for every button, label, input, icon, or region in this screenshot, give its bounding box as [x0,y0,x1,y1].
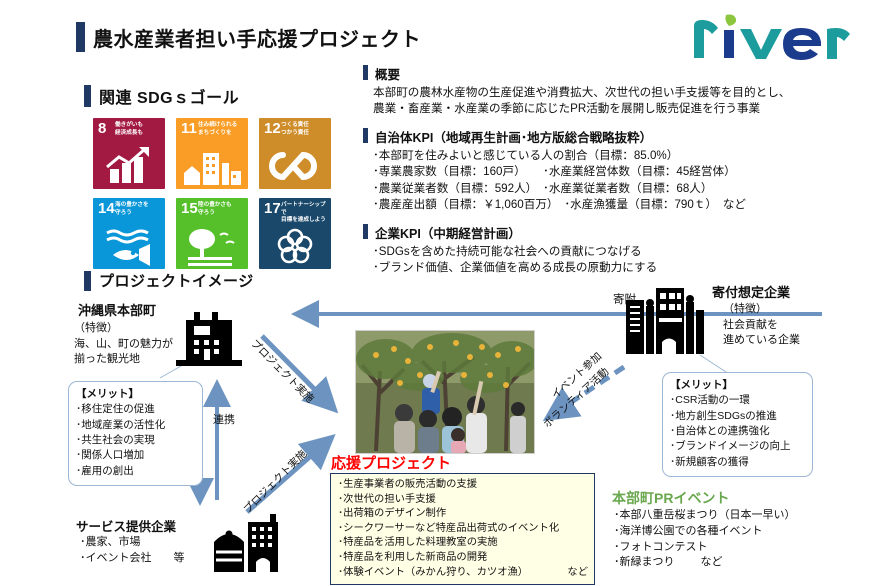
sdg-accent-bar [84,85,91,107]
overview-body: 本部町の農林水産物の生産促進や消費拡大、次世代の担い手支援等を目的とし、 農業・… [373,85,868,118]
gov-kpi-heading: 自治体KPI（地域再生計画･地方版総合戦略抜粋） [363,127,868,146]
government-building-icon [168,308,264,368]
project-image-accent-bar [84,271,91,291]
overview-line: 農業・畜産業・水産業の季節に応じたPR活動を展開し販売促進を行う事業 [373,101,868,117]
tree-birds-icon [176,225,248,267]
pr-events-last-row: ･新緑まつり など [614,555,796,571]
city-buildings-icon [176,145,248,187]
donor-merit-item: ･地方創生SDGsの推進 [670,409,806,424]
town-name: 沖縄県本部町 [78,300,156,319]
town-feature: （特徴） 海、山、町の魅力が 揃った観光地 [74,321,173,368]
river-logo [688,8,853,60]
donor-feature-line: 進めている企業 [723,333,800,349]
gov-kpi-body: ･本部町を住みよいと感じている人の割合（目標：85.0%） ･専業農家数（目標：… [373,148,868,214]
sdg-label: 働きがいも 経済成長も [115,122,162,137]
pr-event-item: ･海洋博公園での各種イベント [614,524,796,540]
sdg-number: 15 [181,201,198,216]
overview-accent-bar [363,65,368,80]
town-merit-item: ･地域産業の活性化 [76,418,196,433]
donor-merit-box: 【メリット】 ･CSR活動の一環 ･地方創生SDGsの推進 ･自治体との連携強化… [662,372,813,477]
overview-line: 本部町の農林水産物の生産促進や消費拡大、次世代の担い手支援等を目的とし、 [373,85,868,101]
fish-icon [93,225,165,267]
gov-kpi-line: ･農業従業者数（目標：592人） ･水産業従業者数（目標：68人） [373,181,868,197]
partnership-circles-icon [259,225,331,267]
donor-merit-item: ･自治体との連携強化 [670,424,806,439]
pr-event-item: ･フォトコンテスト [614,540,796,556]
town-merit-item: ･共生社会の実現 [76,433,196,448]
support-project-item: ･出荷箱のデザイン制作 [338,507,588,522]
title-text: 農水産業者担い手応援プロジェクト [93,23,421,52]
service-item: ･イベント会社 等 [80,551,185,567]
town-merit-title: 【メリット】 [76,387,196,402]
pr-event-item: ･本部八重岳桜まつり（日本一早い） [614,508,796,524]
sdg-tile-15: 15 陸の豊かさも 守ろう [176,198,248,269]
sdg-label: 陸の豊かさも 守ろう [198,202,245,217]
sdg-heading-text: 関連 SDGｓゴール [99,84,239,108]
town-merit-item: ･雇用の創出 [76,464,196,479]
support-project-item: ･特産品を利用した新商品の開発 [338,551,588,566]
sdg-number: 17 [264,201,281,216]
support-project-trailing: など [567,566,588,581]
donor-merit-item: ･ブランドイメージの向上 [670,439,806,454]
infinity-loop-icon [259,145,331,187]
support-project-item: ･シークワーサーなど特産品出荷式のイベント化 [338,522,588,537]
corporate-buildings-icon [622,280,708,358]
donor-merit-item: ･新規顧客の獲得 [670,455,806,470]
river-wordmark-icon [688,8,853,60]
support-project-item: ･生産事業者の販売活動の支援 [338,478,588,493]
town-merit-item: ･関係人口増加 [76,448,196,463]
gov-kpi-accent-bar [363,128,368,143]
corp-kpi-heading-text: 企業KPI（中期経営計画） [375,223,521,242]
donor-feature-line: （特徴） [723,302,800,318]
sdg-goal-grid: 8 働きがいも 経済成長も 11 住み続けられる まちづくりを 12 つくる責 [93,118,331,269]
title-accent-bar [76,22,85,52]
sdg-section-heading: 関連 SDGｓゴール [84,84,239,108]
gov-kpi-line: ･農産産出額（目標：￥1,060百万） ･水産漁獲量（目標：790ｔ） など [373,197,868,213]
donor-merit-title: 【メリット】 [670,378,806,393]
gov-kpi-line: ･本部町を住みよいと感じている人の割合（目標：85.0%） [373,148,868,164]
corp-kpi-line: ･ブランド価値、企業価値を高める成長の原動力にする [373,260,868,276]
support-project-title: 応援プロジェクト [331,452,451,473]
sdg-tile-14: 14 海の豊かさを 守ろう [93,198,165,269]
gov-kpi-line: ･専業農家数（目標：160戸） ･水産業経営体数（目標：45経営体） [373,164,868,180]
sdg-label: 住み続けられる まちづくりを [198,122,245,137]
pr-events-trailing: など [701,555,723,571]
service-provider-name: サービス提供企業 [76,516,176,535]
town-merit-item: ･移住定住の促進 [76,402,196,417]
sdg-label: つくる責任 つかう責任 [281,122,328,137]
summary-column: 概要 本部町の農林水産物の生産促進や消費拡大、次世代の担い手支援等を目的とし、 … [363,64,868,286]
sdg-number: 14 [98,201,115,216]
sdg-tile-11: 11 住み続けられる まちづくりを [176,118,248,189]
donor-feature: （特徴） 社会貢献を 進めている企業 [723,302,800,349]
sdg-label: 海の豊かさを 守ろう [115,202,162,217]
donor-merit-item: ･CSR活動の一環 [670,393,806,408]
support-project-item: ･次世代の担い手支援 [338,493,588,508]
service-item: ･農家、市場 [80,535,185,551]
growth-chart-icon [93,145,165,187]
pr-events-list: ･本部八重岳桜まつり（日本一早い） ･海洋博公園での各種イベント ･フォトコンテ… [614,508,796,571]
sdg-number: 8 [98,121,106,136]
sdg-tile-8: 8 働きがいも 経済成長も [93,118,165,189]
gov-kpi-heading-text: 自治体KPI（地域再生計画･地方版総合戦略抜粋） [375,127,652,146]
sdg-tile-17: 17 パートナーシップで 目標を達成しよう [259,198,331,269]
pr-event-item: ･新緑まつり [614,555,675,571]
factory-office-icon [208,508,294,578]
donor-feature-line: 社会貢献を [723,318,800,334]
town-feature-line: 海、山、町の魅力が [74,337,173,353]
corp-kpi-line: ･SDGsを含めた持続可能な社会への貢献につなげる [373,244,868,260]
arrow-label-cooperation: 連携 [213,411,235,427]
overview-heading-text: 概要 [375,64,400,83]
donor-company-name: 寄付想定企業 [712,282,790,301]
sdg-tile-12: 12 つくる責任 つかう責任 [259,118,331,189]
town-feature-line: 揃った観光地 [74,352,173,368]
support-project-item: ･特産品を活用した料理教室の実施 [338,536,588,551]
project-image-heading-text: プロジェクトイメージ [99,270,254,291]
sdg-label: パートナーシップで 目標を達成しよう [281,202,328,225]
project-image-heading: プロジェクトイメージ [84,270,254,291]
support-project-last-row: ･体験イベント（みかん狩り、カツオ漁） など [338,566,588,581]
corp-kpi-accent-bar [363,224,368,239]
page-title: 農水産業者担い手応援プロジェクト [76,22,421,52]
slide-canvas: 農水産業者担い手応援プロジェクト 関連 SDGｓゴール 8 働きがいも 経済成長… [0,0,879,586]
arrow-label-project-exec-bottom: プロジェクト実施 [240,447,310,517]
corp-kpi-heading: 企業KPI（中期経営計画） [363,223,868,242]
support-project-box: ･生産事業者の販売活動の支援 ･次世代の担い手支援 ･出荷箱のデザイン制作 ･シ… [330,473,595,585]
sdg-number: 11 [181,121,197,136]
project-photo [355,330,535,454]
service-provider-list: ･農家、市場 ･イベント会社 等 [80,535,185,567]
orchard-children-photo [356,331,534,453]
sdg-number: 12 [264,121,281,136]
town-merit-box: 【メリット】 ･移住定住の促進 ･地域産業の活性化 ･共生社会の実現 ･関係人口… [68,381,203,486]
corp-kpi-body: ･SDGsを含めた持続可能な社会への貢献につなげる ･ブランド価値、企業価値を高… [373,244,868,277]
overview-heading: 概要 [363,64,868,83]
support-project-item: ･体験イベント（みかん狩り、カツオ漁） [338,566,528,581]
town-feature-line: （特徴） [74,321,173,337]
pr-events-title: 本部町PRイベント [612,488,729,508]
